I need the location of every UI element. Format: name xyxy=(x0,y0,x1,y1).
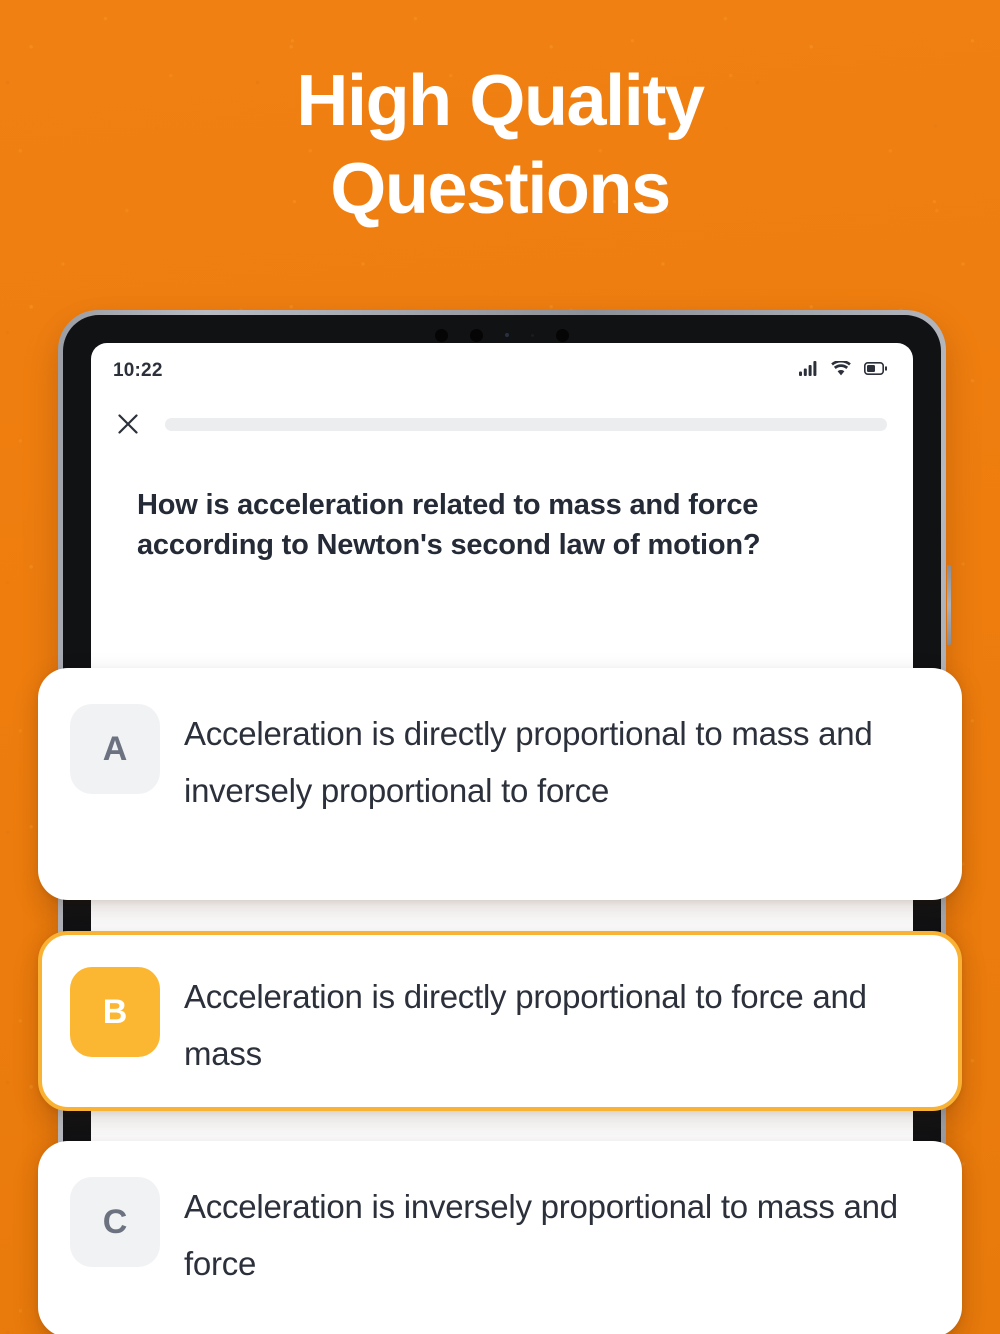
question-text: How is acceleration related to mass and … xyxy=(137,485,861,565)
status-bar-clock: 10:22 xyxy=(113,360,163,382)
camera-dot-icon xyxy=(470,329,483,342)
option-letter-badge-a: A xyxy=(70,704,160,794)
camera-dot-icon xyxy=(556,329,569,342)
headline-line-2: Questions xyxy=(0,146,1000,234)
progress-bar xyxy=(165,418,887,431)
answer-option-b[interactable]: B Acceleration is directly proportional … xyxy=(38,931,962,1111)
quiz-progress-row xyxy=(91,399,913,439)
close-icon[interactable] xyxy=(113,409,143,439)
option-text-b: Acceleration is directly proportional to… xyxy=(184,967,928,1083)
sensor-dot-icon xyxy=(505,333,509,337)
answer-option-a[interactable]: A Acceleration is directly proportional … xyxy=(38,668,962,900)
cellular-signal-icon xyxy=(799,361,818,381)
headline-line-1: High Quality xyxy=(0,58,1000,146)
status-bar-icons xyxy=(799,361,887,381)
option-letter-badge-c: C xyxy=(70,1177,160,1267)
power-button[interactable] xyxy=(947,565,951,645)
option-text-a: Acceleration is directly proportional to… xyxy=(184,704,928,820)
wifi-icon xyxy=(831,361,851,381)
battery-icon xyxy=(864,362,887,380)
option-letter-badge-b: B xyxy=(70,967,160,1057)
option-text-c: Acceleration is inversely proportional t… xyxy=(184,1177,928,1293)
page-title: High Quality Questions xyxy=(0,58,1000,234)
answer-option-c[interactable]: C Acceleration is inversely proportional… xyxy=(38,1141,962,1334)
camera-sensor-row xyxy=(63,325,941,345)
status-bar: 10:22 xyxy=(91,343,913,399)
camera-dot-icon xyxy=(435,329,448,342)
sensor-dot-small-icon xyxy=(531,334,534,337)
